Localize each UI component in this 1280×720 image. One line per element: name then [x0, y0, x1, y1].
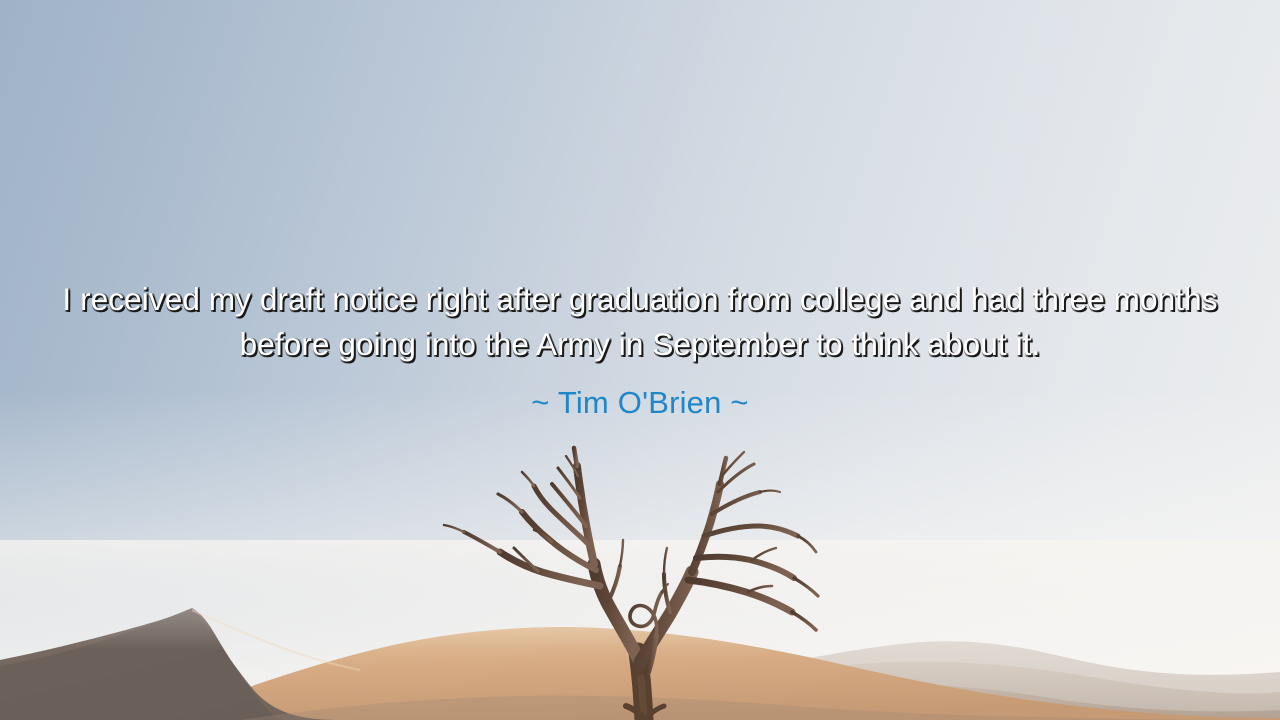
text-overlay: I received my draft notice right after g…: [0, 0, 1280, 720]
author-attribution: ~ Tim O'Brien ~: [531, 384, 748, 422]
quote-text: I received my draft notice right after g…: [50, 277, 1230, 367]
quote-image: I received my draft notice right after g…: [0, 0, 1280, 720]
